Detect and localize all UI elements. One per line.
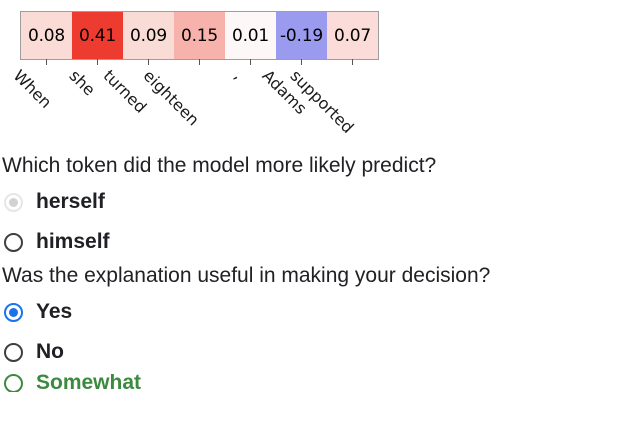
radio-herself[interactable] xyxy=(4,193,23,212)
heatmap-cell: 0.07 xyxy=(327,12,378,59)
option-no[interactable]: No xyxy=(4,332,640,372)
heatmap-token-labels: Whensheturnedeighteen,Adamssupported xyxy=(20,66,640,150)
heatmap-cell: 0.09 xyxy=(123,12,174,59)
token-label: When xyxy=(9,66,55,112)
survey-form: Which token did the model more likely pr… xyxy=(0,152,640,392)
axis-tick xyxy=(301,59,302,65)
radio-himself[interactable] xyxy=(4,233,23,252)
heatmap-axis-ticks xyxy=(20,59,377,66)
radio-yes[interactable] xyxy=(4,303,23,322)
option-somewhat-label: Somewhat xyxy=(36,374,141,392)
option-no-label: No xyxy=(36,340,64,364)
option-yes[interactable]: Yes xyxy=(4,292,640,332)
radio-no[interactable] xyxy=(4,343,23,362)
heatmap-cell: 0.08 xyxy=(21,12,72,59)
axis-tick xyxy=(97,59,98,65)
option-herself-label: herself xyxy=(36,190,105,214)
heatmap-cell: 0.01 xyxy=(225,12,276,59)
axis-tick xyxy=(352,59,353,65)
option-somewhat[interactable]: Somewhat xyxy=(4,374,640,392)
heatmap-cell: -0.19 xyxy=(276,12,327,59)
axis-tick xyxy=(148,59,149,65)
heatmap-cell: 0.15 xyxy=(174,12,225,59)
option-himself[interactable]: himself xyxy=(4,222,640,262)
token-label: , xyxy=(230,66,247,83)
token-label: turned xyxy=(100,66,151,117)
usefulness-question-text: Was the explanation useful in making you… xyxy=(2,262,640,290)
option-himself-label: himself xyxy=(36,230,110,254)
token-label: she xyxy=(66,66,99,99)
attribution-heatmap-figure: 0.080.410.090.150.01-0.190.07 Whenshetur… xyxy=(0,0,640,150)
option-herself[interactable]: herself xyxy=(4,182,640,222)
heatmap-cell-strip: 0.080.410.090.150.01-0.190.07 xyxy=(20,11,379,60)
heatmap-cell: 0.41 xyxy=(72,12,123,59)
axis-tick xyxy=(250,59,251,65)
option-yes-label: Yes xyxy=(36,300,72,324)
prediction-question-text: Which token did the model more likely pr… xyxy=(2,152,640,180)
token-label: eighteen xyxy=(139,66,202,129)
radio-somewhat[interactable] xyxy=(4,374,23,392)
axis-tick xyxy=(46,59,47,65)
axis-tick xyxy=(199,59,200,65)
